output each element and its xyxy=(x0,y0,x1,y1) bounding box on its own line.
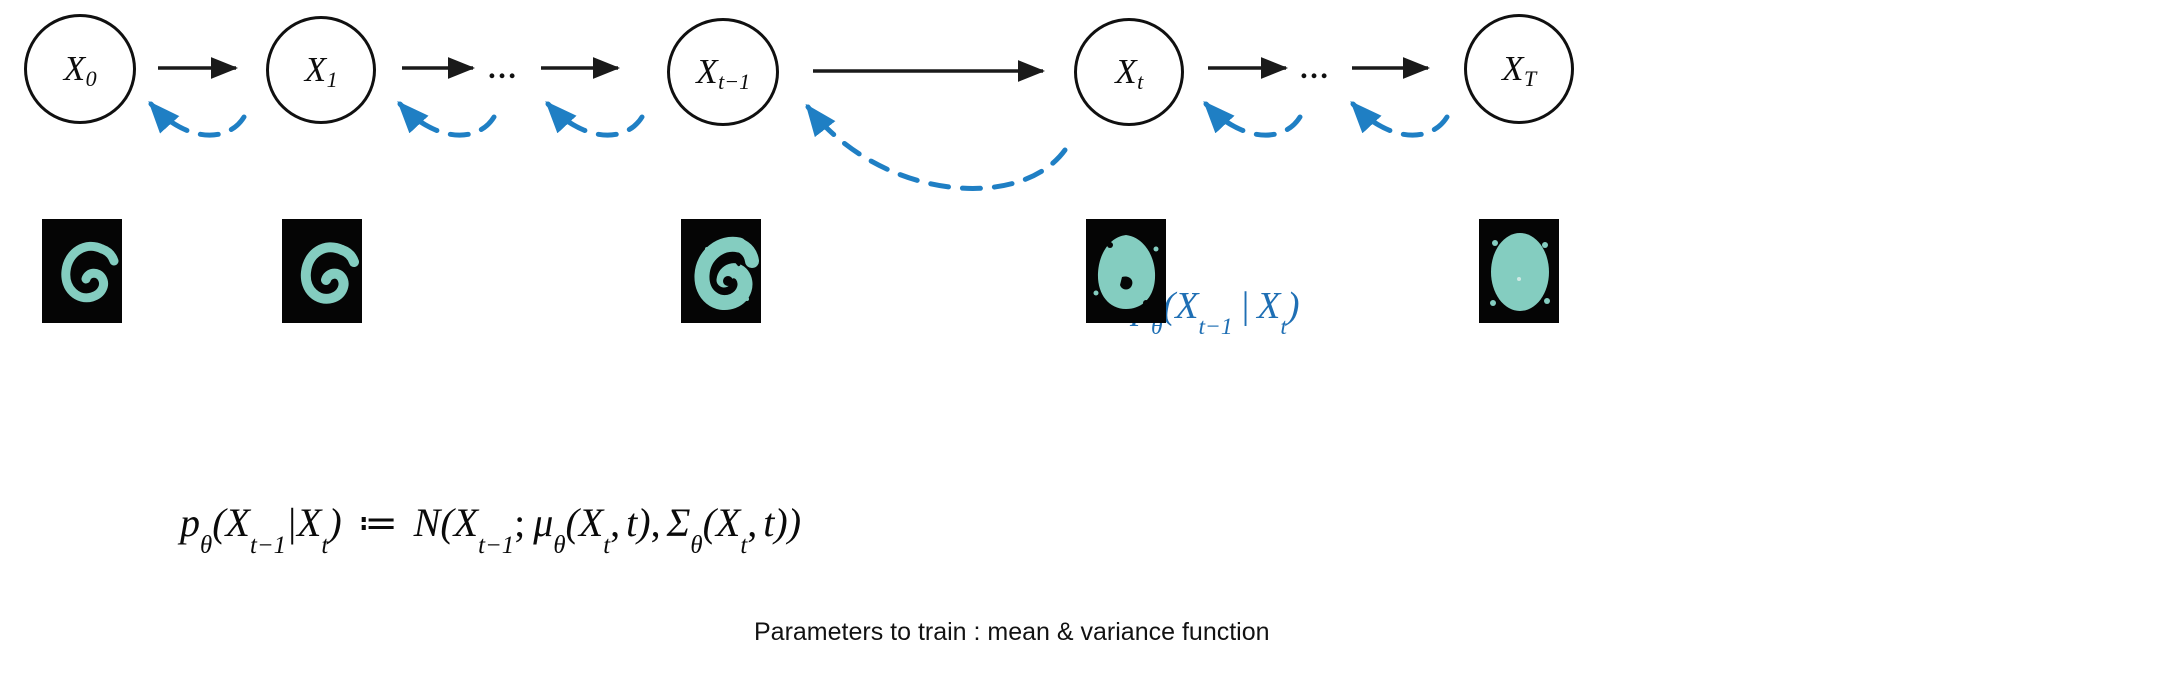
sample-xt xyxy=(1086,219,1166,323)
node-xt-label: Xt xyxy=(1115,54,1143,89)
training-parameters-caption: Parameters to train : mean & variance fu… xyxy=(754,620,1270,645)
ellipsis-2: … xyxy=(1299,54,1331,84)
node-x1-label: X1 xyxy=(305,52,337,87)
node-x0[interactable]: X0 xyxy=(24,14,136,124)
node-xt-minus-1-label: Xt−1 xyxy=(696,54,749,89)
sample-x0-art xyxy=(42,219,122,323)
sample-x0 xyxy=(42,219,122,323)
reverse-arc-3 xyxy=(548,104,642,135)
node-x1[interactable]: X1 xyxy=(266,16,376,124)
sample-xt-minus-1-art xyxy=(681,219,761,323)
sample-x1 xyxy=(282,219,362,323)
sample-x1-art xyxy=(282,219,362,323)
node-xT[interactable]: XT xyxy=(1464,14,1574,124)
sample-xt-minus-1 xyxy=(681,219,761,323)
reverse-arc-5 xyxy=(1206,104,1300,135)
node-xt-minus-1[interactable]: Xt−1 xyxy=(667,18,779,126)
diagram-canvas: #vec g[data-name="forward-arrows"]{} #ve… xyxy=(0,0,2167,683)
sample-xT-art xyxy=(1479,219,1559,323)
ellipsis-1: … xyxy=(487,54,519,84)
node-xt[interactable]: Xt xyxy=(1074,18,1184,126)
sample-xt-art xyxy=(1086,219,1166,323)
reverse-arc-2 xyxy=(400,104,494,135)
reverse-arc-1 xyxy=(151,104,244,135)
sample-xT xyxy=(1479,219,1559,323)
node-x0-label: X0 xyxy=(64,51,96,86)
reverse-arc-4 xyxy=(808,107,1065,188)
node-xT-label: XT xyxy=(1502,51,1536,86)
reverse-process-equation: pθ(Xt−1|Xt)≔N(Xt−1;μθ(Xt,t),Σθ(Xt,t)) xyxy=(180,503,801,551)
reverse-arc-6 xyxy=(1353,104,1447,135)
